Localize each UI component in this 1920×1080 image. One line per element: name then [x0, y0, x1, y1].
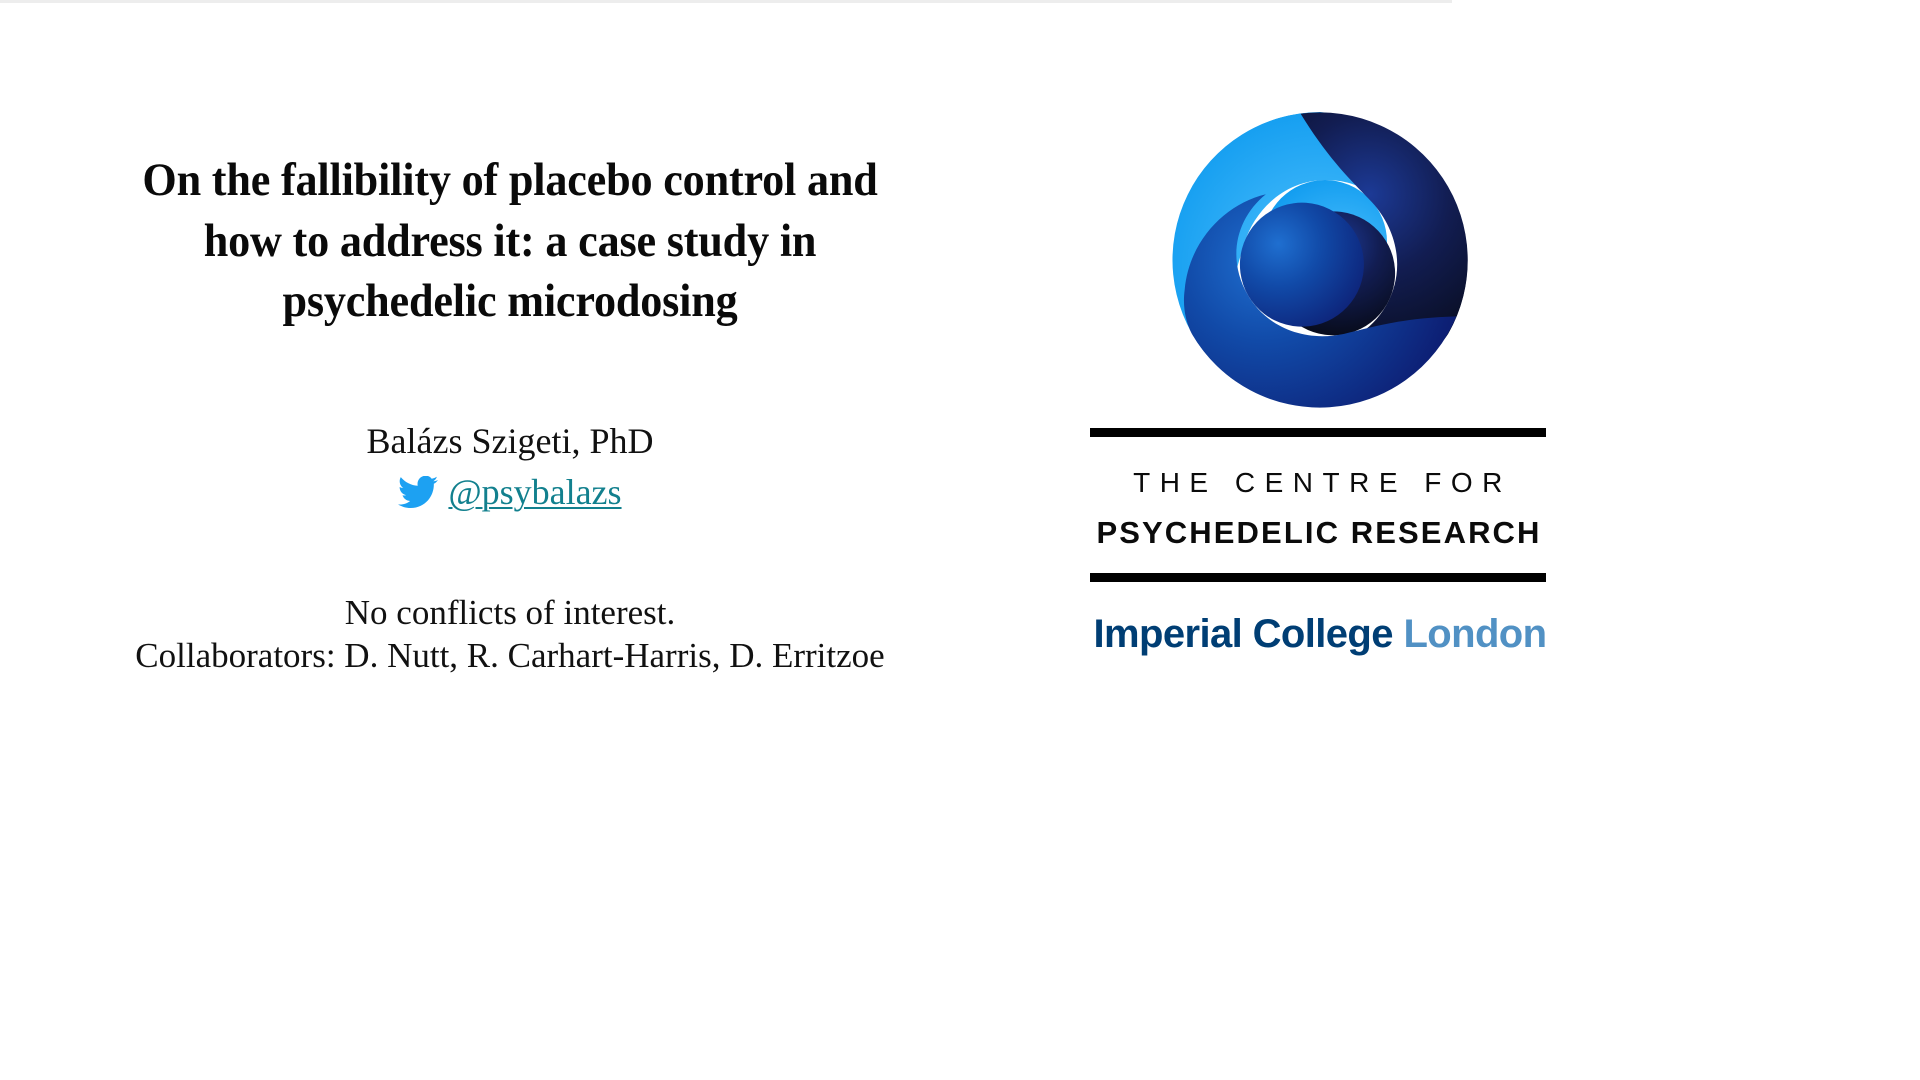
page-title: On the fallibility of placebo control an… — [134, 150, 886, 332]
conflicts-statement: No conflicts of interest. — [60, 592, 960, 635]
author-name: Balázs Szigeti, PhD — [60, 420, 960, 463]
slide-content-left: On the fallibility of placebo control an… — [60, 150, 960, 678]
centre-rule-top — [1090, 428, 1546, 437]
title-line-1: On the fallibility of placebo control an… — [134, 150, 886, 211]
disclosure-block: No conflicts of interest. Collaborators:… — [60, 592, 960, 677]
centre-name: PSYCHEDELIC RESEARCH — [1090, 515, 1546, 551]
logo-column: THE CENTRE FOR PSYCHEDELIC RESEARCH Impe… — [1090, 110, 1550, 657]
centre-for-psychedelic-research-logo: THE CENTRE FOR PSYCHEDELIC RESEARCH — [1090, 428, 1546, 582]
author-block: Balázs Szigeti, PhD @psybalazs — [60, 420, 960, 514]
centre-tagline: THE CENTRE FOR — [1090, 467, 1546, 499]
imperial-college-text: Imperial College — [1094, 612, 1393, 656]
centre-rule-bottom — [1090, 573, 1546, 582]
collaborators-statement: Collaborators: D. Nutt, R. Carhart-Harri… — [60, 635, 960, 678]
twitter-link-row[interactable]: @psybalazs — [60, 471, 960, 514]
title-slide: On the fallibility of placebo control an… — [0, 0, 1920, 1080]
top-hairline-divider — [0, 0, 1452, 3]
imperial-london-text: London — [1403, 612, 1546, 656]
twitter-handle-link[interactable]: @psybalazs — [448, 471, 621, 514]
twitter-bird-icon — [398, 476, 438, 510]
title-line-2: how to address it: a case study in — [134, 211, 886, 272]
triskelion-logo-icon — [1160, 110, 1480, 410]
title-line-3: psychedelic microdosing — [134, 271, 886, 332]
imperial-college-london-logo: Imperial College London — [1090, 612, 1550, 657]
